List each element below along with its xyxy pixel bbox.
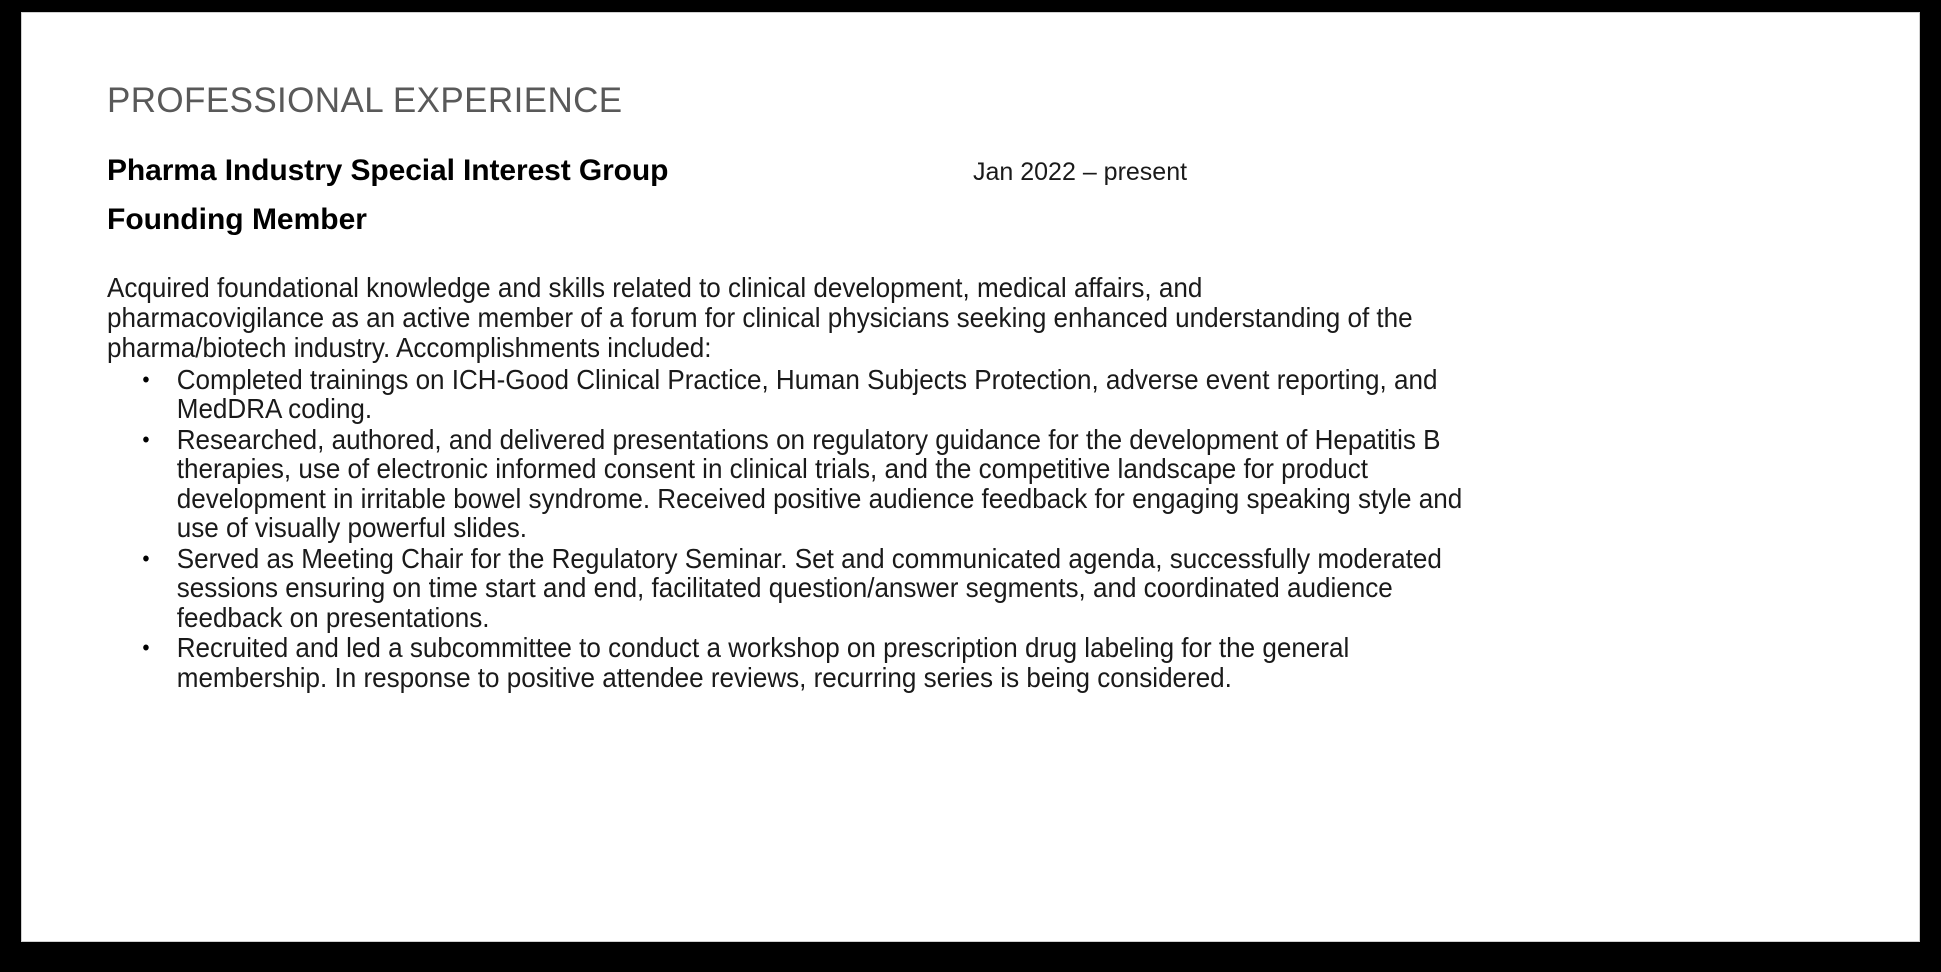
list-item-text: Researched, authored, and delivered pres… xyxy=(177,425,1484,543)
list-item-text: Served as Meeting Chair for the Regulato… xyxy=(177,544,1484,633)
list-item-text: Recruited and led a subcommittee to cond… xyxy=(177,633,1484,692)
list-item: • Completed trainings on ICH-Good Clinic… xyxy=(107,365,1483,424)
bullet-icon: • xyxy=(142,544,149,574)
bullet-icon: • xyxy=(142,425,149,455)
bullet-icon: • xyxy=(142,365,149,395)
list-item: • Researched, authored, and delivered pr… xyxy=(107,425,1483,543)
job-date-range: Jan 2022 – present xyxy=(973,158,1187,187)
list-item: • Served as Meeting Chair for the Regula… xyxy=(107,544,1483,633)
accomplishments-list: • Completed trainings on ICH-Good Clinic… xyxy=(107,365,1587,693)
slide-content: PROFESSIONAL EXPERIENCE Pharma Industry … xyxy=(107,82,1880,693)
job-summary-paragraph: Acquired foundational knowledge and skil… xyxy=(107,273,1418,363)
bullet-icon: • xyxy=(142,633,149,663)
list-item-text: Completed trainings on ICH-Good Clinical… xyxy=(177,365,1484,424)
slide-canvas: PROFESSIONAL EXPERIENCE Pharma Industry … xyxy=(21,12,1920,942)
job-organization: Pharma Industry Special Interest Group xyxy=(107,154,668,188)
job-header-row: Pharma Industry Special Interest Group J… xyxy=(107,154,1880,194)
job-title: Founding Member xyxy=(107,203,1880,237)
list-item: • Recruited and led a subcommittee to co… xyxy=(107,633,1483,692)
section-heading: PROFESSIONAL EXPERIENCE xyxy=(107,82,1880,121)
slide-black-frame: PROFESSIONAL EXPERIENCE Pharma Industry … xyxy=(0,0,1941,972)
